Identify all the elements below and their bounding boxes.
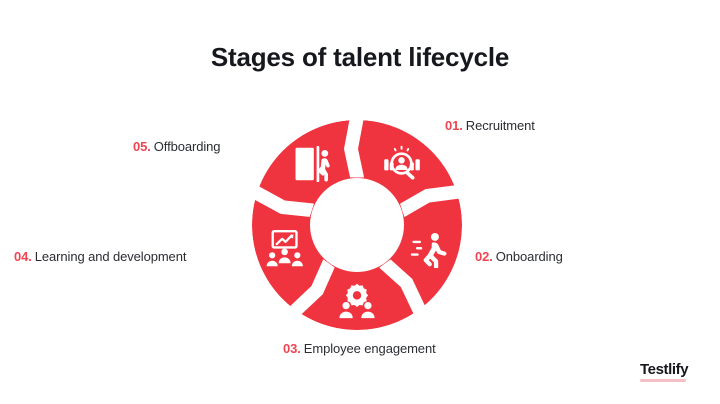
testlify-logo: Testlify bbox=[640, 362, 702, 382]
stage-label-employee-engagement: 03.Employee engagement bbox=[283, 341, 436, 356]
stage-number-02: 02. bbox=[475, 249, 493, 264]
stage-text-03: Employee engagement bbox=[304, 341, 436, 356]
stage-number-05: 05. bbox=[133, 139, 151, 154]
stage-text-02: Onboarding bbox=[496, 249, 563, 264]
stage-text-04: Learning and development bbox=[35, 249, 187, 264]
infographic-canvas: Stages of talent lifecycle bbox=[0, 0, 720, 404]
stage-label-offboarding: 05.Offboarding bbox=[133, 139, 220, 154]
stage-label-recruitment: 01.Recruitment bbox=[445, 118, 535, 133]
donut-ring bbox=[252, 120, 462, 330]
talent-lifecycle-donut bbox=[245, 113, 469, 337]
logo-underline bbox=[640, 379, 686, 382]
stage-number-04: 04. bbox=[14, 249, 32, 264]
stage-text-01: Recruitment bbox=[466, 118, 535, 133]
stage-number-01: 01. bbox=[445, 118, 463, 133]
stage-label-onboarding: 02.Onboarding bbox=[475, 249, 563, 264]
logo-text: Testlify bbox=[640, 362, 702, 377]
stage-label-learning-and-development: 04.Learning and development bbox=[14, 249, 186, 264]
stage-number-03: 03. bbox=[283, 341, 301, 356]
stage-text-05: Offboarding bbox=[154, 139, 221, 154]
page-title: Stages of talent lifecycle bbox=[0, 42, 720, 73]
